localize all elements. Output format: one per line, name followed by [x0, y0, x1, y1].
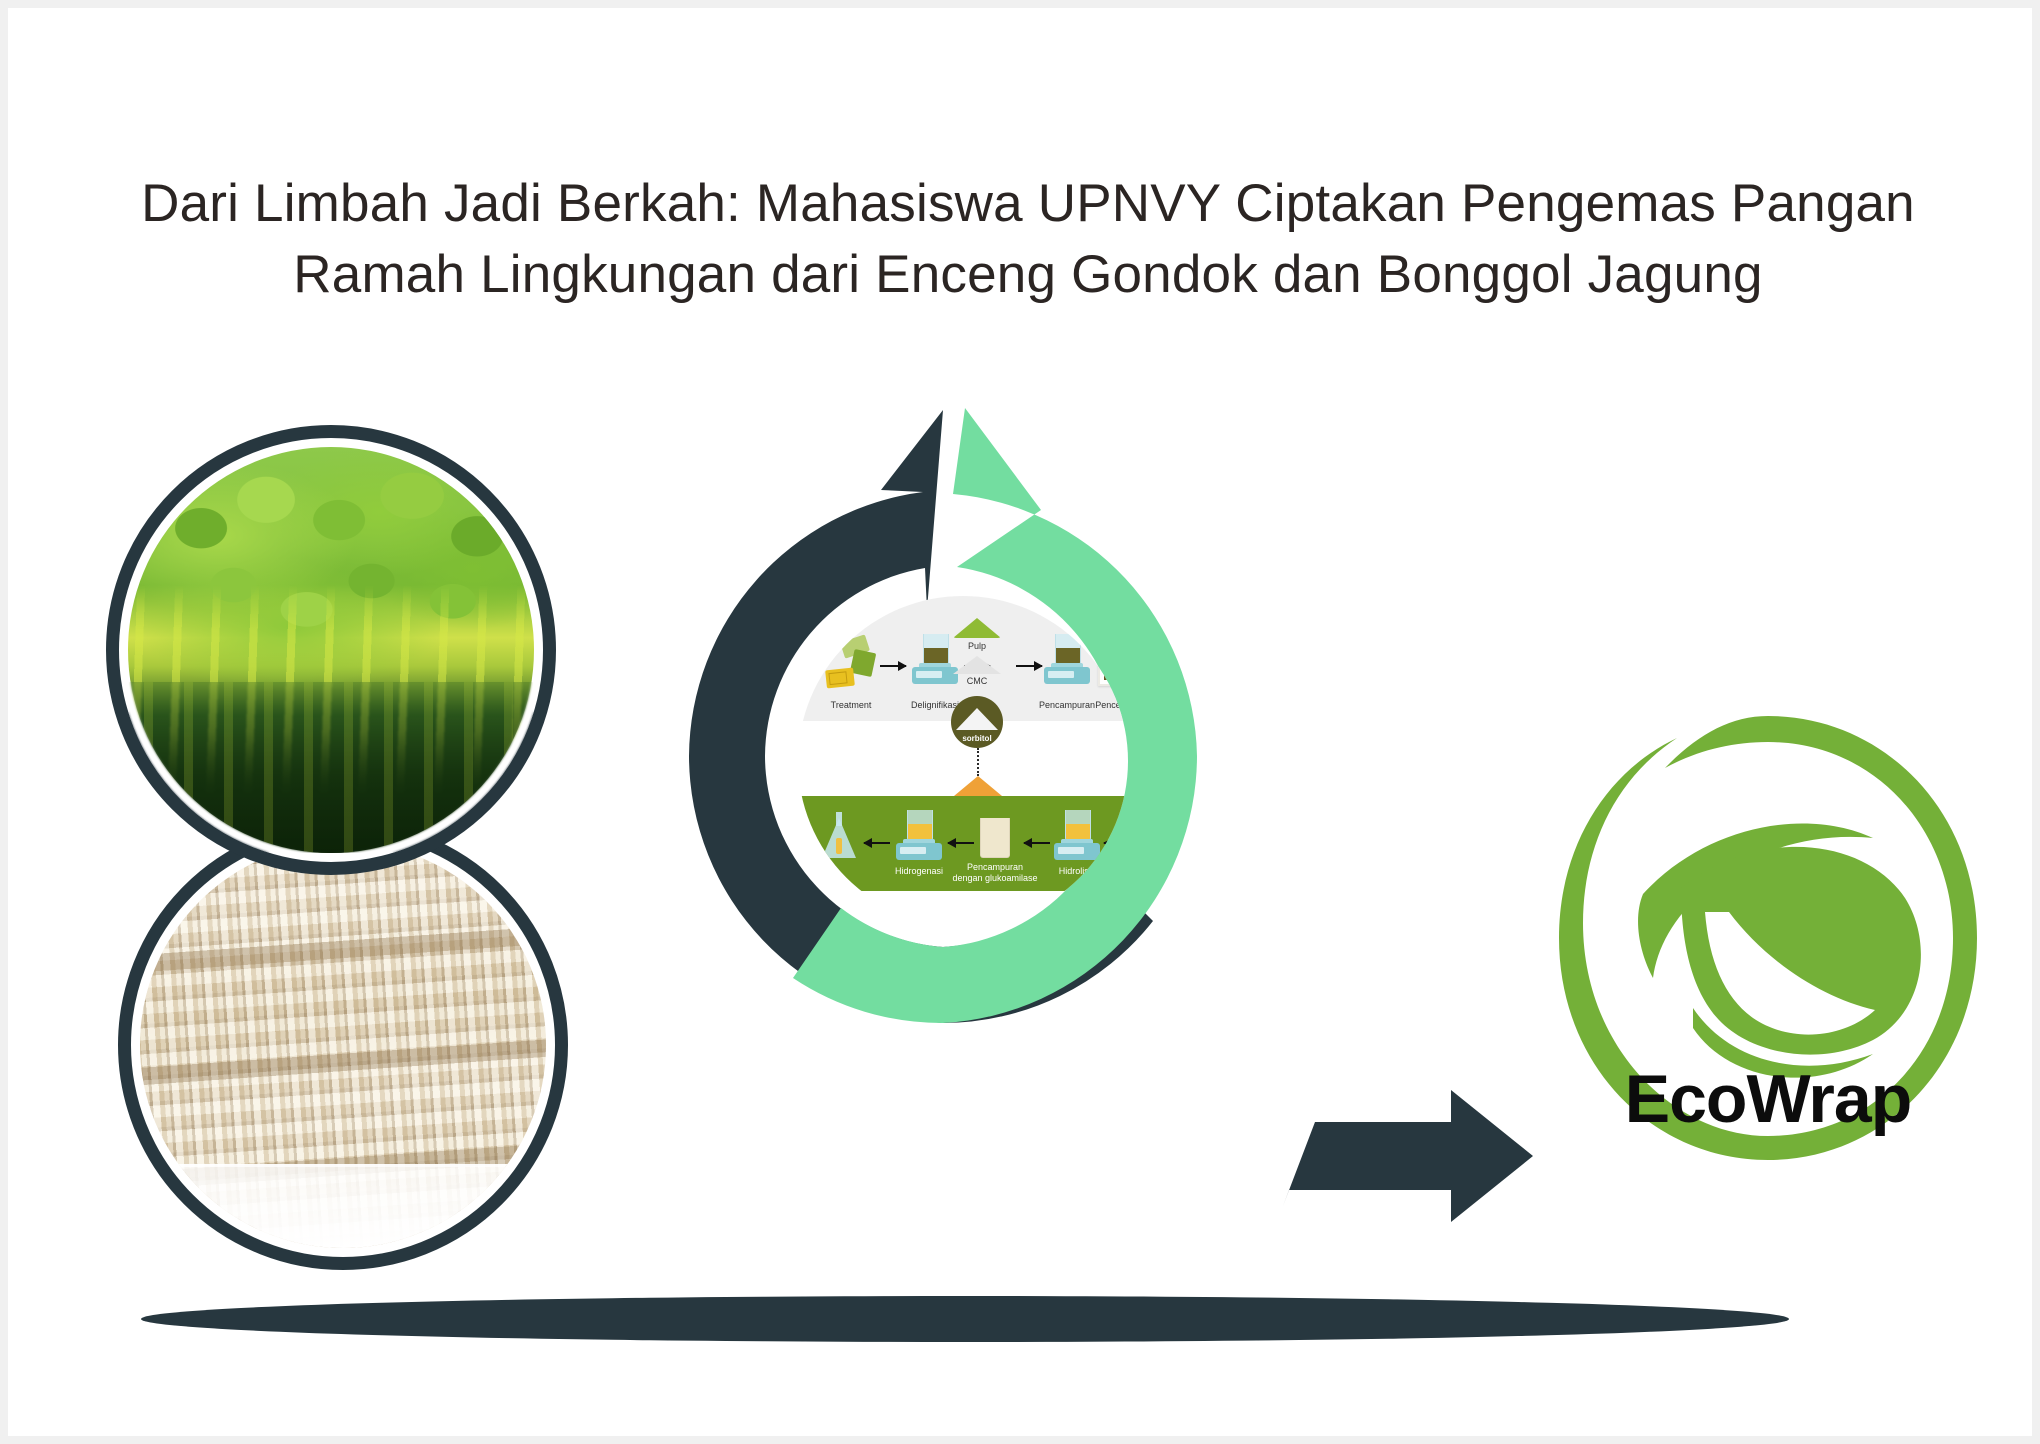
poster-canvas: Dari Limbah Jadi Berkah: Mahasiswa UPNVY…	[8, 8, 2032, 1436]
photo-bonggol-jagung-image	[140, 842, 546, 1248]
cmc-icon	[953, 656, 1001, 674]
orange-powder-icon	[954, 776, 1002, 796]
ecowrap-wordmark: EcoWrap	[1553, 1060, 1983, 1138]
arrow-treatment-to-delignifikasi	[880, 665, 906, 667]
hidrolisis-icon	[1054, 810, 1100, 860]
result-arrow	[1283, 1086, 1533, 1234]
glukoamilase-icon	[980, 818, 1010, 858]
photo-enceng-gondok	[106, 425, 556, 875]
flask-icon	[822, 812, 856, 858]
diagram-green-band: Hidrogenasi Pencampuran dengan glukoamil…	[798, 796, 1128, 891]
title-line-1: Dari Limbah Jadi Berkah: Mahasiswa UPNVY…	[108, 168, 1948, 239]
label-sorbitol: sorbitol	[951, 734, 1003, 743]
pulp-icon	[953, 618, 1001, 638]
hidrogenasi-icon	[896, 810, 942, 860]
arrow-to-hidrogenasi	[948, 842, 974, 844]
label-pencetakan: Pencetakan	[1076, 700, 1128, 711]
arrow-to-flask	[864, 842, 890, 844]
arrow-to-hidrolisis	[1104, 842, 1126, 844]
sorbitol-pile	[956, 708, 998, 730]
label-hidrogenasi: Hidrogenasi	[880, 866, 958, 877]
ecowrap-logo: EcoWrap	[1553, 698, 1983, 1208]
label-cmc: CMC	[950, 676, 1004, 687]
process-diagram: Treatment Delignifikasi Pulp CMC sorbito…	[798, 596, 1128, 926]
title-line-2: Ramah Lingkungan dari Enceng Gondok dan …	[108, 239, 1948, 310]
ground-shadow	[141, 1296, 1789, 1342]
arrow-cmc-to-pencampuran	[1016, 665, 1042, 667]
label-hidrolisis: Hidrolisis	[1038, 866, 1116, 877]
sorbitol-connector	[977, 748, 979, 776]
treatment-icon	[826, 638, 876, 688]
arrow-to-glukoamilase	[1024, 842, 1050, 844]
label-glukoamilase: Pencampuran dengan glukoamilase	[952, 862, 1038, 884]
pencetakan-icon	[1098, 640, 1128, 686]
label-treatment: Treatment	[808, 700, 894, 711]
label-delignifikasi-bottom: Delignifikasi	[1112, 866, 1128, 877]
pencampuran-icon	[1044, 634, 1090, 684]
photo-enceng-gondok-image	[128, 447, 534, 853]
label-pulp: Pulp	[950, 641, 1004, 652]
photo-bonggol-jagung	[118, 820, 568, 1270]
page-title: Dari Limbah Jadi Berkah: Mahasiswa UPNVY…	[108, 168, 1948, 310]
